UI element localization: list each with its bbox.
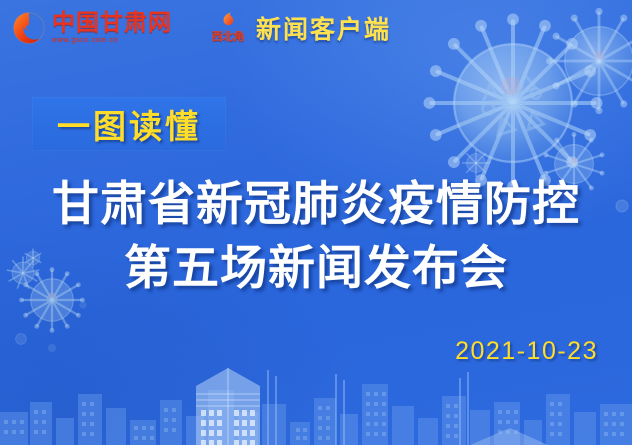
app-mark-text: 西北角 [206, 28, 250, 44]
coronavirus-icon [540, 2, 632, 120]
site-wordmark: 中国甘肃网 www.gscn.com.cn [52, 12, 172, 44]
site-name: 中国甘肃网 [52, 12, 172, 35]
coronavirus-icon [46, 342, 58, 354]
page-title: 甘肃省新冠肺炎疫情防控 第五场新闻发布会 [0, 174, 632, 302]
swoosh-logo-icon [12, 11, 46, 45]
flame-icon [220, 11, 237, 28]
app-brand[interactable]: 西北角 新闻客户端 [206, 10, 391, 46]
coronavirus-icon [12, 330, 30, 348]
page-title-line-1: 甘肃省新冠肺炎疫情防控 [0, 174, 632, 236]
coronavirus-icon [418, 8, 608, 198]
app-mark: 西北角 [206, 11, 250, 45]
status-badge: 一图读懂 [32, 97, 226, 151]
badge-label: 一图读懂 [57, 100, 201, 148]
site-brand[interactable]: 中国甘肃网 www.gscn.com.cn [12, 11, 172, 45]
poster-canvas: 中国甘肃网 www.gscn.com.cn [0, 0, 632, 445]
app-name: 新闻客户端 [256, 10, 391, 46]
site-url: www.gscn.com.cn [52, 37, 172, 44]
publish-date: 2021-10-23 [455, 337, 598, 366]
page-title-line-2: 第五场新闻发布会 [0, 236, 632, 302]
brand-header: 中国甘肃网 www.gscn.com.cn [12, 9, 391, 47]
